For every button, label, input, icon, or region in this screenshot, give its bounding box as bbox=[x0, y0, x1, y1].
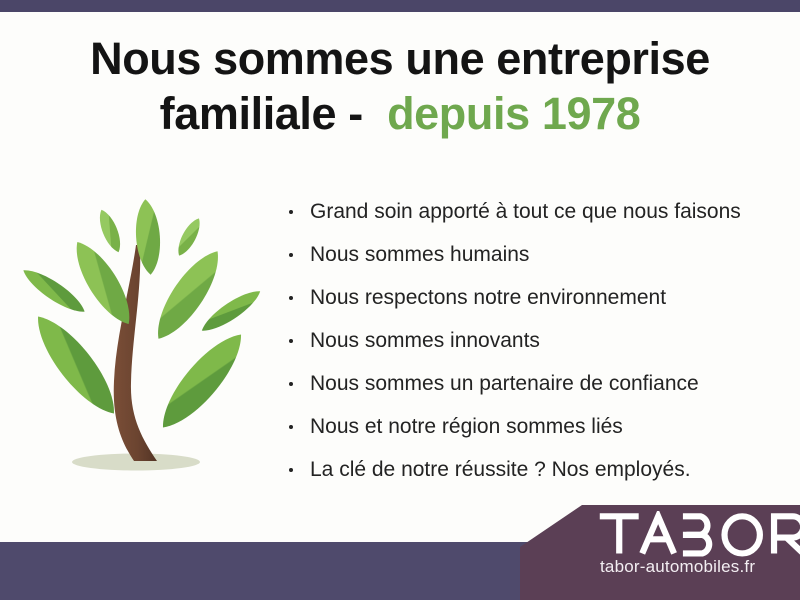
list-item-label: Nous sommes un partenaire de confiance bbox=[310, 372, 699, 395]
list-item-label: Nous sommes innovants bbox=[310, 329, 540, 352]
bullet-dot-icon bbox=[289, 210, 293, 214]
title-dash-glyph: - bbox=[348, 88, 363, 139]
bullet-dot-icon bbox=[289, 382, 293, 386]
list-item-label: Nous respectons notre environnement bbox=[310, 286, 666, 309]
title-line-1: Nous sommes une entreprise bbox=[0, 32, 800, 87]
brand-website-url: tabor-automobiles.fr bbox=[600, 557, 755, 577]
bullet-dot-icon bbox=[289, 253, 293, 257]
list-item-label: Grand soin apporté à tout ce que nous fa… bbox=[310, 200, 741, 223]
list-item: Nous et notre région sommes liés bbox=[286, 405, 786, 448]
title-dash bbox=[336, 88, 348, 139]
top-accent-band bbox=[0, 0, 800, 12]
title-accent: depuis 1978 bbox=[387, 88, 640, 139]
page-title: Nous sommes une entreprise familiale - d… bbox=[0, 32, 800, 142]
brand-logo-plate: tabor-automobiles.fr bbox=[520, 505, 800, 600]
leaf-lower-right bbox=[150, 324, 253, 438]
list-item: Nous respectons notre environnement bbox=[286, 276, 786, 319]
leaf-right-outer bbox=[197, 284, 265, 337]
value-proposition-list: Grand soin apporté à tout ce que nous fa… bbox=[286, 190, 786, 491]
list-item-label: Nous et notre région sommes liés bbox=[310, 415, 623, 438]
bullet-dot-icon bbox=[289, 468, 293, 472]
list-item: La clé de notre réussite ? Nos employés. bbox=[286, 448, 786, 491]
slide-canvas: Nous sommes une entreprise familiale - d… bbox=[0, 0, 800, 600]
tree-illustration bbox=[18, 185, 266, 485]
list-item-label: Nous sommes humains bbox=[310, 243, 529, 266]
title-line-2: familiale - depuis 1978 bbox=[0, 87, 800, 142]
list-item: Nous sommes un partenaire de confiance bbox=[286, 362, 786, 405]
bullet-dot-icon bbox=[289, 339, 293, 343]
title-spacer bbox=[363, 88, 387, 139]
list-item: Grand soin apporté à tout ce que nous fa… bbox=[286, 190, 786, 233]
tree-trunk bbox=[114, 245, 157, 461]
leaf-top-left-small bbox=[95, 207, 126, 255]
title-line-2-prefix: familiale bbox=[160, 88, 337, 139]
bullet-dot-icon bbox=[289, 296, 293, 300]
list-item-label: La clé de notre réussite ? Nos employés. bbox=[310, 458, 691, 481]
list-item: Nous sommes innovants bbox=[286, 319, 786, 362]
leaf-top-right-small bbox=[173, 215, 204, 258]
list-item: Nous sommes humains bbox=[286, 233, 786, 276]
leaf-upper-right bbox=[146, 243, 230, 348]
leaf-lower-left bbox=[25, 306, 127, 423]
bullet-dot-icon bbox=[289, 425, 293, 429]
tabor-wordmark-logo bbox=[598, 511, 800, 557]
leaf-left-outer bbox=[19, 263, 90, 319]
